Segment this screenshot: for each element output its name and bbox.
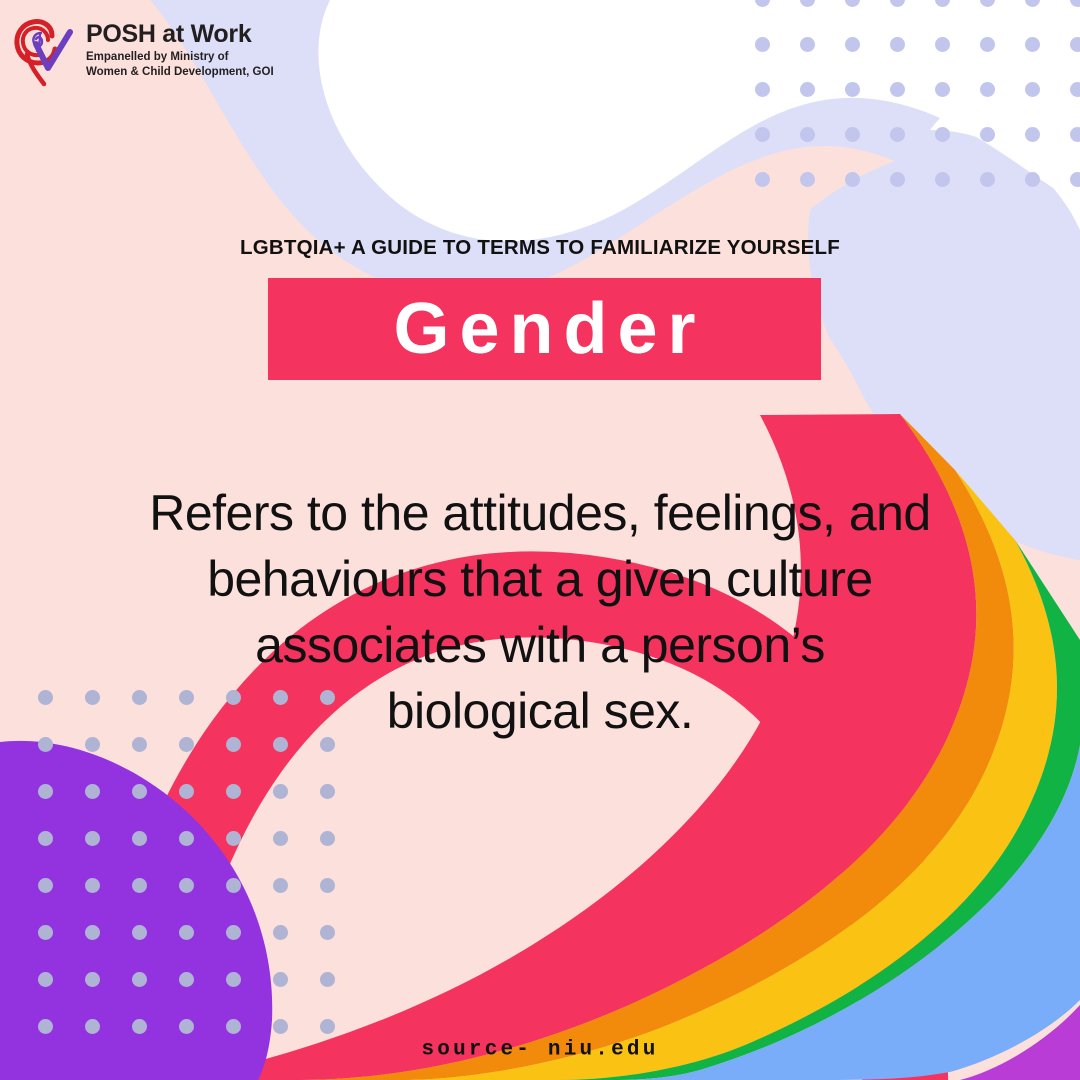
- decorative-dot: [755, 172, 770, 187]
- decorative-dot: [226, 925, 241, 940]
- decorative-dot: [980, 37, 995, 52]
- decorative-dot: [38, 784, 53, 799]
- decorative-dot: [1070, 172, 1080, 187]
- decorative-dot: [800, 172, 815, 187]
- decorative-dot: [845, 172, 860, 187]
- decorative-dot: [320, 878, 335, 893]
- decorative-dot: [273, 972, 288, 987]
- decorative-dot: [38, 925, 53, 940]
- poster-canvas: POSH at Work Empanelled by Ministry of W…: [0, 0, 1080, 1080]
- decorative-dot: [800, 82, 815, 97]
- decorative-dot: [980, 127, 995, 142]
- brand-tagline-line1: Empanelled by Ministry of: [86, 51, 229, 63]
- decorative-dot: [38, 972, 53, 987]
- decorative-dot: [320, 972, 335, 987]
- decorative-dot: [38, 831, 53, 846]
- decorative-dot: [179, 878, 194, 893]
- definition-line-1: Refers to the attitudes, feelings, and: [90, 480, 990, 546]
- decorative-dot: [320, 784, 335, 799]
- decorative-dot: [890, 37, 905, 52]
- decorative-dot: [132, 972, 147, 987]
- decorative-dot: [935, 37, 950, 52]
- decorative-dot: [132, 831, 147, 846]
- decorative-dot: [85, 1019, 100, 1034]
- brand-name: POSH at Work: [86, 22, 274, 47]
- decorative-dot: [800, 127, 815, 142]
- definition-line-3: associates with a person’s: [90, 612, 990, 678]
- decorative-dot: [38, 690, 53, 705]
- decorative-dot: [179, 784, 194, 799]
- decorative-dot: [845, 37, 860, 52]
- decorative-dot: [935, 82, 950, 97]
- decorative-dot: [179, 831, 194, 846]
- decorative-dot: [38, 737, 53, 752]
- decorative-dot: [980, 82, 995, 97]
- decorative-dot: [320, 831, 335, 846]
- decorative-dot: [1025, 82, 1040, 97]
- decorative-dot: [273, 831, 288, 846]
- decorative-dot: [273, 784, 288, 799]
- definition-line-2: behaviours that a given culture: [90, 546, 990, 612]
- decorative-dot: [755, 82, 770, 97]
- decorative-dot: [320, 925, 335, 940]
- decorative-dot: [38, 1019, 53, 1034]
- decorative-dot: [38, 878, 53, 893]
- decorative-dot: [755, 37, 770, 52]
- decorative-dot: [980, 172, 995, 187]
- decorative-dot: [755, 127, 770, 142]
- decorative-dot: [800, 37, 815, 52]
- brand-tagline-line2: Women & Child Development, GOI: [86, 66, 274, 78]
- decorative-dot: [1070, 82, 1080, 97]
- decorative-dot: [179, 972, 194, 987]
- decorative-dot: [85, 878, 100, 893]
- decorative-dot: [226, 1019, 241, 1034]
- decorative-dot: [273, 1019, 288, 1034]
- decorative-dot: [85, 831, 100, 846]
- brand-tagline: Empanelled by Ministry of Women & Child …: [86, 50, 274, 79]
- decorative-dot: [226, 972, 241, 987]
- decorative-dot: [845, 82, 860, 97]
- decorative-dot: [85, 784, 100, 799]
- decorative-dot: [890, 172, 905, 187]
- brand-logo-text: POSH at Work Empanelled by Ministry of W…: [86, 18, 274, 79]
- decorative-dot: [1025, 127, 1040, 142]
- posh-spiral-checkmark-icon: [14, 18, 78, 90]
- decorative-dot: [273, 878, 288, 893]
- decorative-dot: [226, 831, 241, 846]
- decorative-dot: [1070, 127, 1080, 142]
- decorative-dot: [179, 925, 194, 940]
- decorative-dot: [132, 1019, 147, 1034]
- brand-logo[interactable]: POSH at Work Empanelled by Ministry of W…: [14, 18, 274, 90]
- definition-line-4: biological sex.: [90, 678, 990, 744]
- eyebrow-text: LGBTQIA+ A GUIDE TO TERMS TO FAMILIARIZE…: [0, 236, 1080, 260]
- decorative-dot: [845, 127, 860, 142]
- decorative-dot: [226, 784, 241, 799]
- decorative-dot: [132, 784, 147, 799]
- decorative-dot: [890, 82, 905, 97]
- decorative-dot: [132, 925, 147, 940]
- decorative-dot: [935, 172, 950, 187]
- source-credit: source- niu.edu: [0, 1039, 1080, 1062]
- decorative-dot: [226, 878, 241, 893]
- decorative-dot: [1025, 172, 1040, 187]
- title-highlight-box: Gender: [268, 278, 821, 380]
- definition-text: Refers to the attitudes, feelings, and b…: [90, 480, 990, 744]
- decorative-dot: [85, 925, 100, 940]
- decorative-dot: [890, 127, 905, 142]
- decorative-dot: [1070, 37, 1080, 52]
- decorative-dot: [132, 878, 147, 893]
- decorative-dot: [1025, 37, 1040, 52]
- decorative-dot: [179, 1019, 194, 1034]
- decorative-dot: [85, 972, 100, 987]
- decorative-dot: [320, 1019, 335, 1034]
- decorative-dot: [935, 127, 950, 142]
- page-title: Gender: [383, 293, 705, 365]
- decorative-dot: [273, 925, 288, 940]
